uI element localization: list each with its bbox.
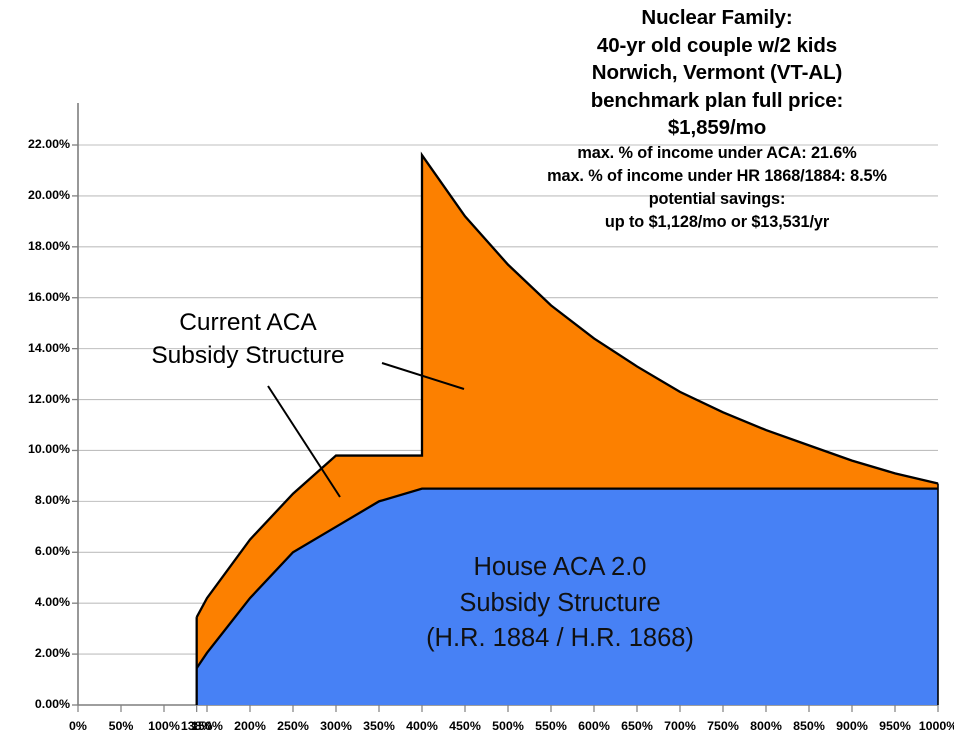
callout-current-aca: Current ACA Subsidy Structure xyxy=(108,306,388,372)
stat-max-aca: max. % of income under ACA: 21.6% xyxy=(487,142,947,165)
header-annotation: Nuclear Family: 40-yr old couple w/2 kid… xyxy=(487,4,947,234)
chart-root: Nuclear Family: 40-yr old couple w/2 kid… xyxy=(0,0,954,746)
y-axis-tick-label: 12.00% xyxy=(6,392,70,406)
header-line-4: benchmark plan full price: xyxy=(487,87,947,115)
y-axis-tick-label: 2.00% xyxy=(6,646,70,660)
y-axis-tick-label: 10.00% xyxy=(6,442,70,456)
callout-house-line-3: (H.R. 1884 / H.R. 1868) xyxy=(358,621,762,657)
y-axis-tick-label: 18.00% xyxy=(6,239,70,253)
stat-savings-label: potential savings: xyxy=(487,188,947,211)
callout-aca-line-1: Current ACA xyxy=(108,306,388,339)
y-axis-tick-label: 0.00% xyxy=(6,697,70,711)
x-axis-tick-label: 1000% xyxy=(912,719,954,733)
header-line-5: $1,859/mo xyxy=(487,114,947,142)
x-tick-marks xyxy=(78,705,938,712)
axes xyxy=(72,103,78,705)
y-axis-tick-label: 16.00% xyxy=(6,290,70,304)
callout-house-line-2: Subsidy Structure xyxy=(358,586,762,622)
y-axis-tick-label: 8.00% xyxy=(6,493,70,507)
header-line-1: Nuclear Family: xyxy=(487,4,947,32)
y-axis-tick-label: 4.00% xyxy=(6,595,70,609)
y-axis-tick-label: 20.00% xyxy=(6,188,70,202)
header-line-2: 40-yr old couple w/2 kids xyxy=(487,32,947,60)
callout-house-aca: House ACA 2.0 Subsidy Structure (H.R. 18… xyxy=(358,550,762,657)
callout-aca-line-2: Subsidy Structure xyxy=(108,339,388,372)
y-axis-tick-label: 14.00% xyxy=(6,341,70,355)
stat-savings-value: up to $1,128/mo or $13,531/yr xyxy=(487,211,947,234)
y-axis-tick-label: 6.00% xyxy=(6,544,70,558)
leader-line-left xyxy=(268,386,340,497)
y-axis-tick-label: 22.00% xyxy=(6,137,70,151)
stat-max-hr: max. % of income under HR 1868/1884: 8.5… xyxy=(487,165,947,188)
callout-house-line-1: House ACA 2.0 xyxy=(358,550,762,586)
header-line-3: Norwich, Vermont (VT-AL) xyxy=(487,59,947,87)
